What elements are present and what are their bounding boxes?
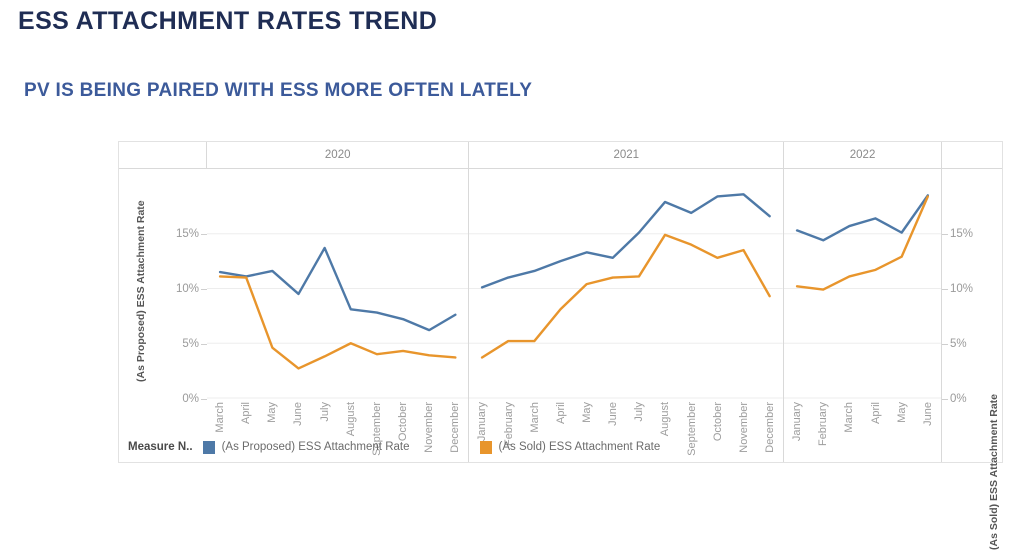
left-axis-tick-10pct: 10% — [176, 283, 199, 295]
chart-panel-2020 — [207, 168, 469, 400]
year-header-corner — [119, 142, 207, 168]
x-axis-label-2022-april: April — [870, 402, 882, 424]
left-axis-title: (As Proposed) ESS Attachment Rate — [135, 200, 147, 382]
series-line-as-sold-2022[interactable] — [797, 196, 928, 289]
x-axis-label-2020-july: July — [319, 402, 331, 422]
x-axis-label-2022-february: February — [817, 402, 829, 446]
chart-panel-2021 — [469, 168, 784, 400]
x-axis-label-2022-march: March — [843, 402, 855, 433]
x-axis-label-2021-may: May — [581, 402, 593, 423]
year-label-text: 2021 — [613, 149, 639, 161]
x-axis-label-2020-march: March — [214, 402, 226, 433]
x-axis-panel-2022: JanuaryFebruaryMarchAprilMayJune — [784, 400, 942, 462]
legend-title: Measure N.. — [128, 441, 193, 453]
legend-label-as-sold: (As Sold) ESS Attachment Rate — [499, 441, 661, 453]
legend-swatch-as-proposed — [203, 441, 215, 454]
year-header-right-pad — [942, 142, 1002, 168]
right-axis-tick-mark — [942, 289, 948, 290]
panel-year-header: 202020212022 — [119, 142, 1002, 168]
series-line-as-sold-2020[interactable] — [220, 276, 455, 368]
x-axis-label-2020-april: April — [240, 402, 252, 424]
x-axis-label-2022-january: January — [791, 402, 803, 441]
plot-region: (As Proposed) ESS Attachment Rate 0%5%10… — [119, 168, 1002, 400]
year-label-2022: 2022 — [784, 142, 942, 168]
title-block: ESS ATTACHMENT RATES TREND PV IS BEING P… — [0, 0, 1024, 104]
legend-entry-as-proposed[interactable]: (As Proposed) ESS Attachment Rate — [203, 441, 410, 454]
series-line-as-proposed-2020[interactable] — [220, 248, 455, 330]
year-label-text: 2020 — [325, 149, 351, 161]
x-axis-label-2020-august: August — [345, 402, 357, 436]
x-axis-label-2022-june: June — [922, 402, 934, 426]
left-axis-tick-5pct: 5% — [182, 338, 199, 350]
x-axis-label-2021-march: March — [529, 402, 541, 433]
right-axis-tick-15pct: 15% — [950, 228, 973, 240]
right-axis-tick-5pct: 5% — [950, 338, 967, 350]
x-axis-label-2021-october: October — [712, 402, 724, 441]
legend-entry-as-sold[interactable]: (As Sold) ESS Attachment Rate — [480, 441, 661, 454]
page-subtitle: PV IS BEING PAIRED WITH ESS MORE OFTEN L… — [18, 38, 1024, 104]
year-label-text: 2022 — [850, 149, 876, 161]
x-axis-right-pad — [942, 400, 1002, 462]
year-label-2020: 2020 — [207, 142, 469, 168]
panel-plot-2021 — [469, 169, 783, 400]
left-axis: (As Proposed) ESS Attachment Rate 0%5%10… — [119, 168, 207, 400]
year-label-2021: 2021 — [469, 142, 784, 168]
page-title: ESS ATTACHMENT RATES TREND — [18, 4, 1024, 38]
panel-plot-2022 — [784, 169, 941, 400]
right-axis-tick-10pct: 10% — [950, 283, 973, 295]
x-axis-label-2021-july: July — [633, 402, 645, 422]
right-axis-tick-mark — [942, 234, 948, 235]
x-axis-label-2021-december: December — [764, 402, 776, 453]
x-axis-label-2021-november: November — [738, 402, 750, 453]
x-axis-label-2021-april: April — [555, 402, 567, 424]
x-axis-label-2020-may: May — [266, 402, 278, 423]
x-axis-label-2021-september: September — [686, 402, 698, 456]
left-axis-tick-15pct: 15% — [176, 228, 199, 240]
x-axis-label-2020-october: October — [397, 402, 409, 441]
x-axis-label-2021-august: August — [659, 402, 671, 436]
legend-label-as-proposed: (As Proposed) ESS Attachment Rate — [222, 441, 410, 453]
series-line-as-proposed-2021[interactable] — [482, 194, 770, 287]
x-axis-label-2020-june: June — [292, 402, 304, 426]
legend: Measure N.. (As Proposed) ESS Attachment… — [128, 438, 660, 456]
right-axis: (As Sold) ESS Attachment Rate 0%5%10%15% — [942, 168, 1002, 400]
x-axis-label-2022-may: May — [896, 402, 908, 423]
right-axis-tick-mark — [942, 344, 948, 345]
legend-swatch-as-sold — [480, 441, 492, 454]
chart-card: 202020212022 (As Proposed) ESS Attachmen… — [118, 141, 1003, 463]
x-axis-label-2021-january: January — [476, 402, 488, 441]
chart-panel-2022 — [784, 168, 942, 400]
panel-plot-2020 — [207, 169, 468, 400]
series-line-as-sold-2021[interactable] — [482, 235, 770, 358]
x-axis-label-2021-june: June — [607, 402, 619, 426]
